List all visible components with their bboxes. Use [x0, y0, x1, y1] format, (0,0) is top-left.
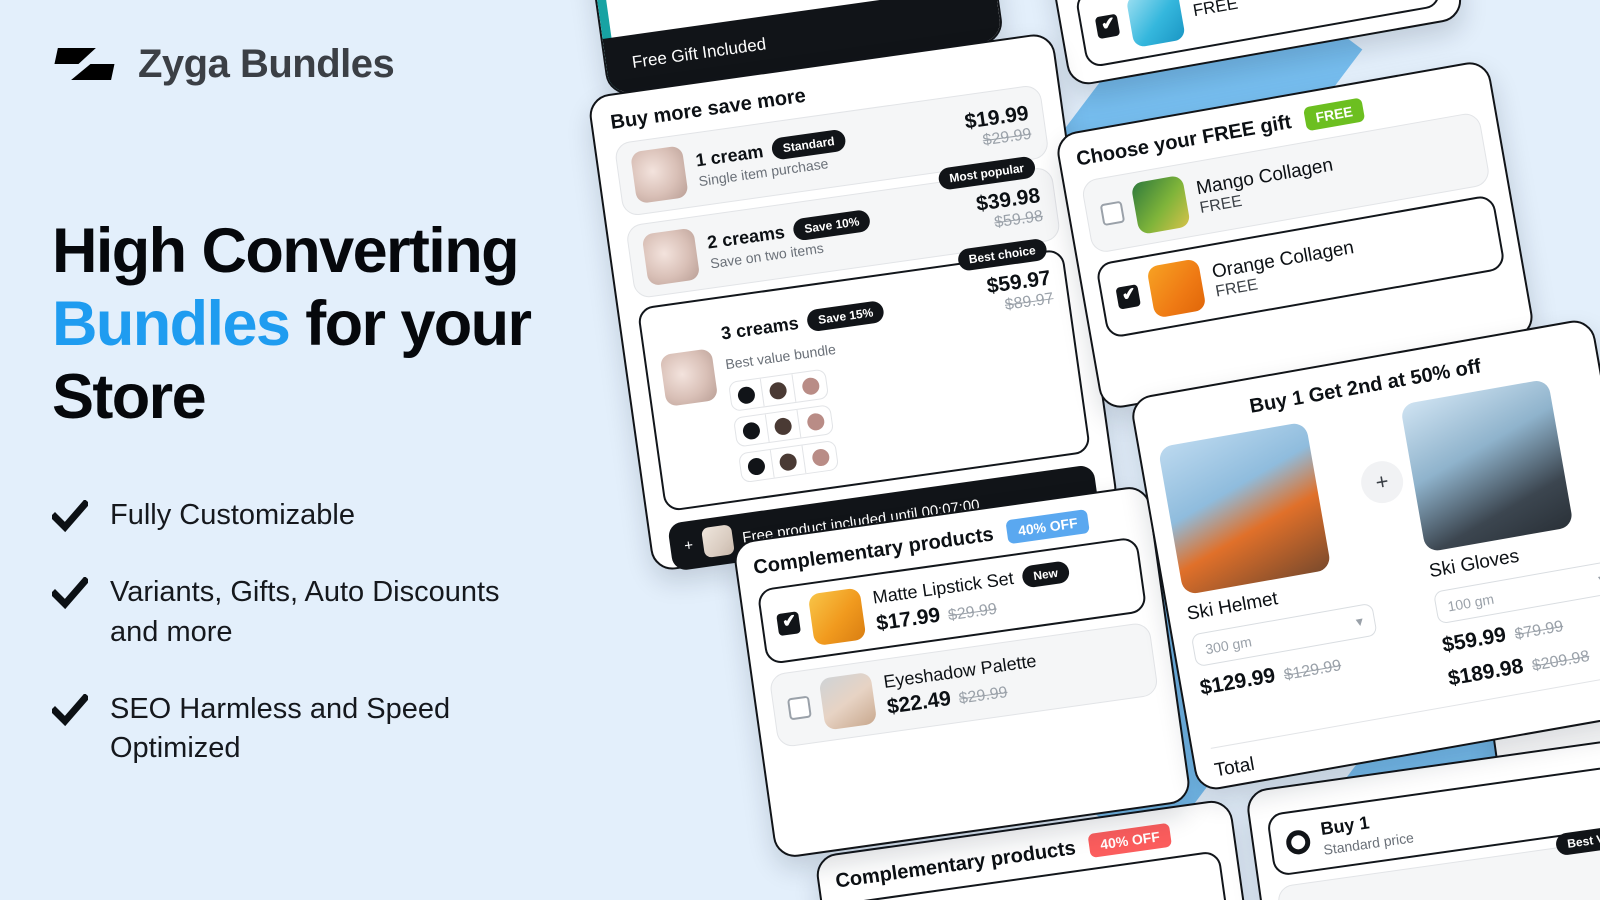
option-badge: Save 15%	[806, 300, 886, 333]
product-thumbnail	[1126, 0, 1186, 48]
product-compare-price: $29.99	[947, 600, 998, 625]
price-block: $59.97 $89.97	[985, 266, 1054, 317]
product-price: $17.99	[875, 603, 942, 636]
swatch-option[interactable]	[802, 441, 838, 473]
swatch-option[interactable]	[734, 414, 770, 446]
plus-icon: +	[683, 536, 694, 554]
product-column[interactable]: Ski Gloves 100 gm ▾ $59.99 $79.99 $189.9…	[1400, 373, 1600, 692]
product-price: $22.49	[886, 687, 953, 720]
discount-tag: 40% OFF	[1006, 509, 1090, 544]
product-image	[1400, 379, 1574, 553]
product-compare-price: $129.99	[1283, 657, 1343, 685]
product-compare-price: $79.99	[1513, 618, 1564, 644]
option-title: 3 creams	[720, 312, 800, 344]
new-badge: New	[1021, 560, 1070, 588]
complementary-products-card[interactable]: Complementary products 40% OFF Matte Lip…	[732, 484, 1192, 859]
swatch-option[interactable]	[761, 374, 797, 406]
list-item: Fully Customizable	[52, 496, 652, 535]
gift-name: Mango Collagen	[1195, 155, 1335, 201]
product-thumbnail	[1131, 175, 1191, 235]
variant-value: 100 gm	[1446, 590, 1495, 614]
option-radio[interactable]	[1285, 828, 1312, 855]
feature-label: SEO Harmless and Speed Optimized	[110, 690, 530, 768]
promo-banner: Zyga Bundles High Converting Bundles for…	[0, 0, 1600, 900]
gift-checkbox[interactable]	[1115, 284, 1140, 309]
list-item: Variants, Gifts, Auto Discounts and more	[52, 573, 652, 651]
gift-checkbox[interactable]	[1095, 14, 1120, 39]
swatch-option[interactable]	[739, 450, 775, 482]
check-icon	[52, 500, 88, 534]
swatch-option[interactable]	[797, 405, 833, 437]
product-price: $59.99	[1440, 623, 1507, 658]
buy-more-save-more-card[interactable]: Buy more save more 1 cream Standard Sing…	[587, 32, 1119, 573]
plus-icon: +	[1358, 458, 1407, 507]
product-thumbnail	[808, 587, 867, 646]
page-title: High Converting Bundles for your Store	[52, 215, 652, 434]
product-checkbox[interactable]	[787, 696, 812, 721]
gift-checkbox[interactable]	[1100, 201, 1125, 226]
product-price: $129.99	[1198, 664, 1277, 701]
price-block: $39.98 $59.98	[975, 184, 1044, 235]
product-thumbnail	[660, 348, 719, 407]
check-icon	[52, 694, 88, 728]
product-checkbox[interactable]	[776, 611, 801, 636]
gift-thumbnail	[701, 524, 735, 558]
list-item: SEO Harmless and Speed Optimized	[52, 690, 652, 768]
product-thumbnail	[1146, 258, 1206, 318]
zyga-z-logo-icon	[52, 38, 116, 90]
brand-lockup: Zyga Bundles	[52, 0, 652, 90]
product-thumbnail	[819, 672, 878, 731]
price-block: $19.99 $29.99	[963, 102, 1032, 153]
option-title: Buy 1	[1319, 812, 1370, 839]
feature-list: Fully Customizable Variants, Gifts, Auto…	[52, 496, 652, 768]
gift-price: FREE	[1191, 0, 1239, 21]
feature-label: Fully Customizable	[110, 496, 355, 535]
product-column[interactable]: Ski Helmet 300 gm ▾ $129.99 $129.99	[1158, 416, 1384, 701]
discount-tag: 40% OFF	[1088, 823, 1172, 858]
swatch-option[interactable]	[766, 410, 802, 442]
product-image	[1158, 422, 1332, 596]
headline-line-3: Store	[52, 362, 205, 432]
buy-one-get-second-card[interactable]: Buy 1 Get 2nd at 50% off Ski Helmet 300 …	[1129, 317, 1600, 793]
headline-highlight: Bundles	[52, 289, 289, 359]
chevron-down-icon: ▾	[1355, 613, 1365, 631]
bundle-price: $189.98	[1446, 655, 1525, 692]
product-compare-price: $29.99	[958, 684, 1009, 709]
brand-name: Zyga Bundles	[138, 42, 394, 87]
product-pair: Ski Helmet 300 gm ▾ $129.99 $129.99 + Sk…	[1158, 373, 1600, 734]
swatch-option[interactable]	[729, 379, 765, 411]
feature-label: Variants, Gifts, Auto Discounts and more	[110, 573, 530, 651]
headline-line-1: High Converting	[52, 216, 518, 286]
headline-line-2-rest: for your	[289, 289, 530, 359]
variant-value: 300 gm	[1204, 633, 1253, 657]
hero-panel: Zyga Bundles High Converting Bundles for…	[52, 0, 652, 900]
gift-name: Orange Collagen	[1210, 237, 1355, 284]
swatch-option[interactable]	[771, 445, 807, 477]
variant-swatch-row[interactable]	[738, 440, 839, 483]
swatch-option[interactable]	[792, 370, 828, 402]
free-tag: FREE	[1303, 97, 1366, 131]
check-icon	[52, 577, 88, 611]
bundle-compare-price: $209.98	[1531, 648, 1591, 676]
